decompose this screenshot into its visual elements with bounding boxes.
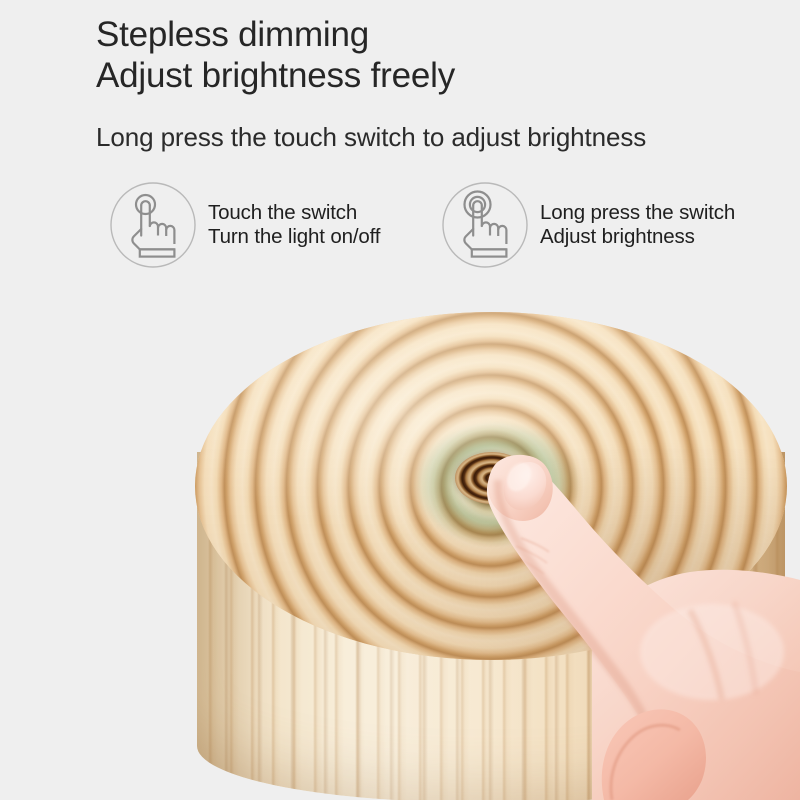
headline-line-1: Stepless dimming: [96, 14, 756, 55]
feature-long-press-the-switch: Long press the switch Adjust brightness: [440, 180, 735, 270]
hand-pressing-switch: [0, 280, 800, 800]
page-title: Stepless dimming Adjust brightness freel…: [96, 14, 756, 96]
feature-touch-the-switch: Touch the switch Turn the light on/off: [108, 180, 380, 270]
subtitle: Long press the touch switch to adjust br…: [96, 121, 646, 153]
feature-touch-line-1: Touch the switch: [208, 201, 380, 225]
hand-long-press-icon: [440, 180, 530, 270]
feature-long-press-line-2: Adjust brightness: [540, 225, 735, 249]
feature-touch-line-2: Turn the light on/off: [208, 225, 380, 249]
feature-long-press-label: Long press the switch Adjust brightness: [540, 201, 735, 249]
headline-line-2: Adjust brightness freely: [96, 55, 756, 96]
feature-long-press-line-1: Long press the switch: [540, 201, 735, 225]
feature-touch-label: Touch the switch Turn the light on/off: [208, 201, 380, 249]
hand-tap-icon: [108, 180, 198, 270]
product-photo: [0, 280, 800, 800]
product-feature-banner: Stepless dimming Adjust brightness freel…: [0, 0, 800, 800]
